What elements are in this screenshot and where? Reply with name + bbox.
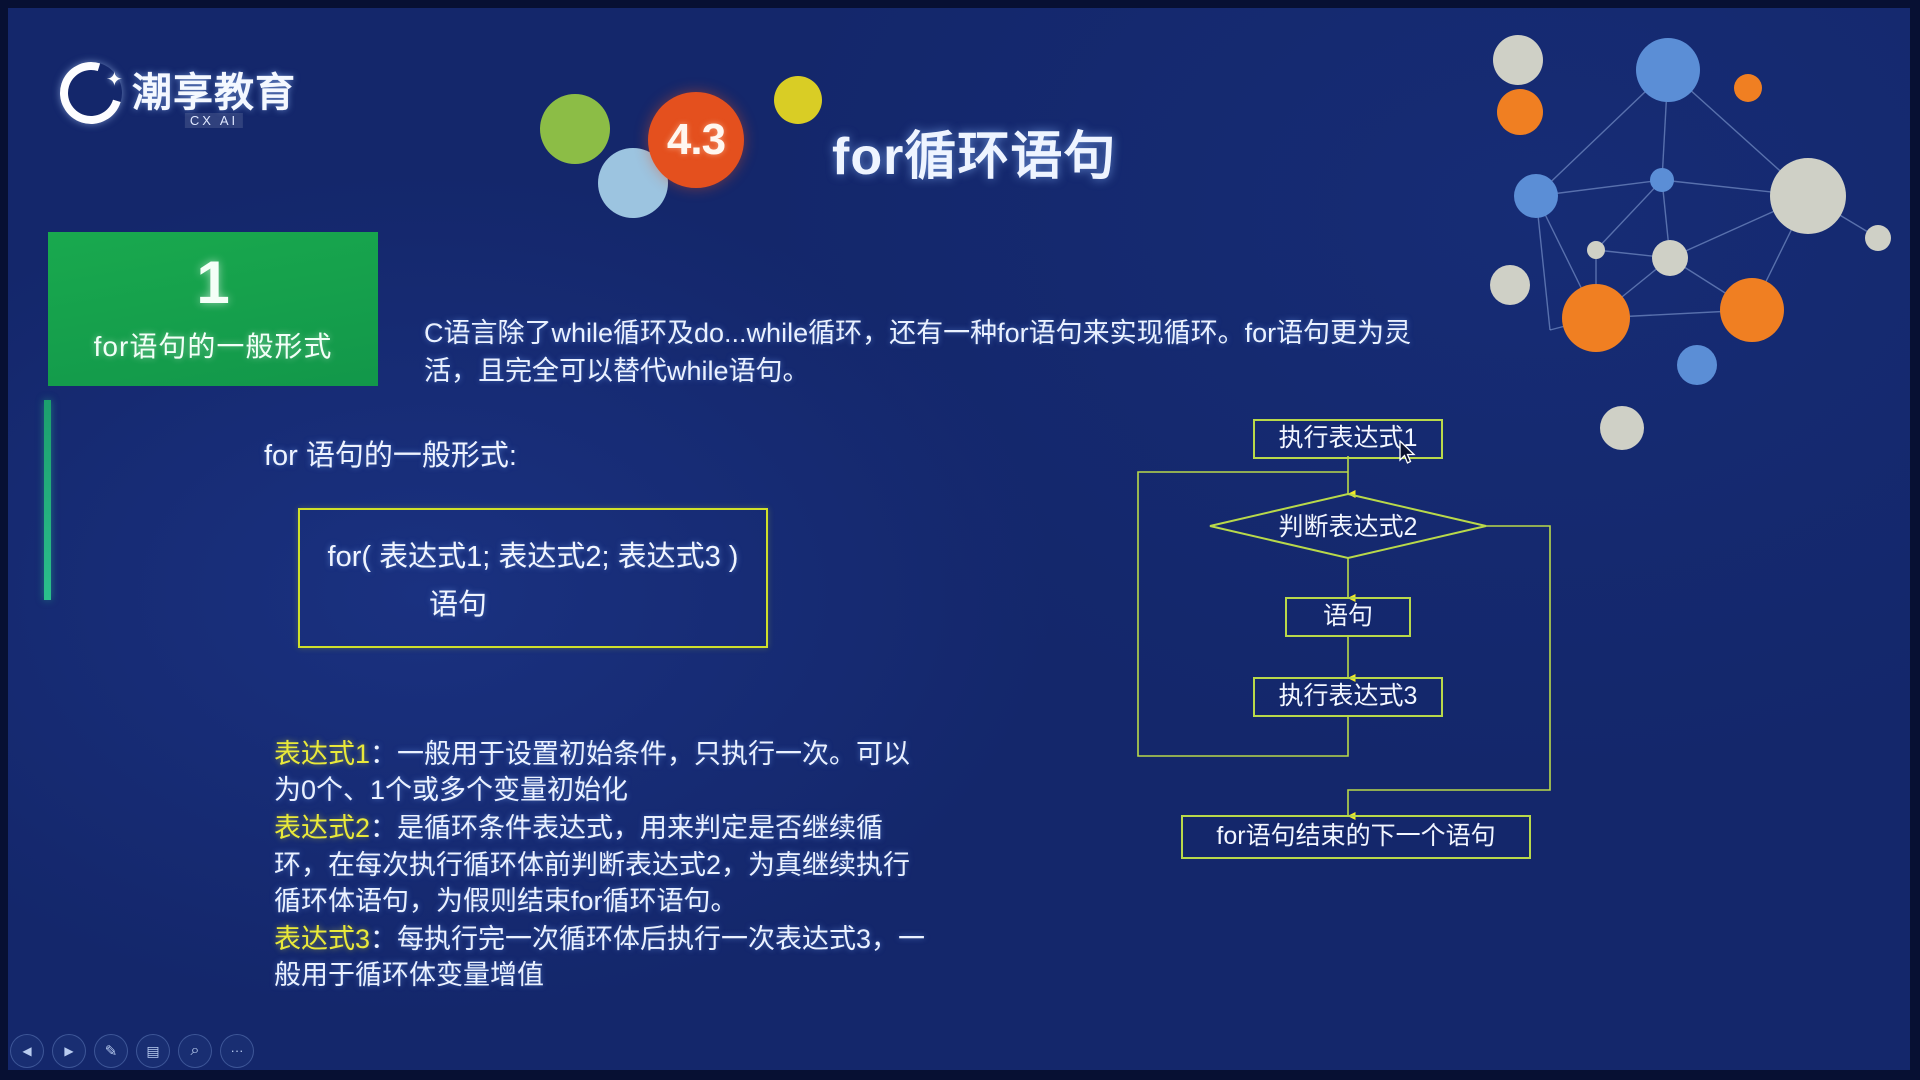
- explanation-colon-2: ：: [370, 813, 397, 843]
- flow-node-n5-label: for语句结束的下一个语句: [1216, 822, 1495, 850]
- code-syntax-box: for( 表达式1; 表达式2; 表达式3 ) 语句: [298, 508, 768, 648]
- flow-node-n2-label: 判断表达式2: [1279, 513, 1418, 541]
- player-toolbar[interactable]: ◀ ▶ ✎ ▤ ⌕ ···: [10, 1034, 254, 1068]
- more-options-button[interactable]: ···: [220, 1034, 254, 1068]
- logo-chinese-name: 潮享教育: [132, 73, 296, 113]
- slide-title: for循环语句: [832, 114, 1116, 189]
- general-form-label: for 语句的一般形式:: [264, 432, 517, 474]
- brand-logo: ✦ 潮享教育 CX AI: [60, 62, 296, 124]
- flow-node-n3-label: 语句: [1323, 602, 1373, 630]
- pen-icon: ✎: [105, 1042, 118, 1060]
- slide-edge-left: [0, 0, 8, 1080]
- flow-node-n4: 执行表达式3: [1254, 678, 1442, 716]
- previous-slide-icon: ◀: [22, 1044, 31, 1058]
- section-number: 1: [196, 253, 229, 313]
- explanation-item-1: 表达式1：一般用于设置初始条件，只执行一次。可以为0个、1个或多个变量初始化: [274, 736, 934, 808]
- logo-subtitle: CX AI: [185, 113, 243, 128]
- explanation-key-1: 表达式1: [274, 739, 370, 769]
- for-loop-flowchart: 执行表达式1 判断表达式2 语句 执行表达式3 for语句结束的下一个语句: [1130, 410, 1590, 1010]
- intro-paragraph: C语言除了while循环及do...while循环，还有一种for语句来实现循环…: [424, 314, 1444, 391]
- explanation-colon-1: ：: [370, 739, 397, 769]
- whiteboard-button[interactable]: ▤: [136, 1034, 170, 1068]
- explanation-colon-3: ：: [370, 924, 397, 954]
- whiteboard-icon: ▤: [146, 1043, 159, 1060]
- next-slide-icon: ▶: [64, 1044, 73, 1058]
- flow-edge-n2-n5-exit: [1348, 526, 1550, 816]
- ellipsis-icon: ···: [231, 1047, 244, 1055]
- decor-bubble-yellow: [774, 76, 822, 124]
- pen-tool-button[interactable]: ✎: [94, 1034, 128, 1068]
- accent-bar: [44, 400, 51, 600]
- explanation-key-2: 表达式2: [274, 813, 370, 843]
- section-heading-box: 1 for语句的一般形式: [48, 232, 378, 386]
- zoom-tool-button[interactable]: ⌕: [178, 1034, 212, 1068]
- next-slide-button[interactable]: ▶: [52, 1034, 86, 1068]
- section-number-badge: 4.3: [648, 92, 744, 188]
- logo-text-group: 潮享教育 CX AI: [132, 73, 296, 113]
- presentation-slide: ✦ 潮享教育 CX AI 4.3 for循环语句: [0, 0, 1920, 1080]
- section-number-badge-label: 4.3: [667, 115, 725, 165]
- code-line-1: for( 表达式1; 表达式2; 表达式3 ): [328, 533, 739, 575]
- flow-node-n5: for语句结束的下一个语句: [1182, 816, 1530, 858]
- flow-node-n4-label: 执行表达式3: [1279, 682, 1418, 710]
- section-label: for语句的一般形式: [94, 325, 333, 365]
- expression-explanation-list: 表达式1：一般用于设置初始条件，只执行一次。可以为0个、1个或多个变量初始化 表…: [274, 736, 934, 995]
- magnifier-icon: ⌕: [191, 1042, 200, 1060]
- explanation-item-3: 表达式3：每执行完一次循环体后执行一次表达式3，一般用于循环体变量增值: [274, 921, 934, 993]
- code-line-2: 语句: [429, 581, 487, 623]
- explanation-item-2: 表达式2：是循环条件表达式，用来判定是否继续循环，在每次执行循环体前判断表达式2…: [274, 810, 934, 919]
- slide-edge-bottom: [0, 1070, 1920, 1080]
- previous-slide-button[interactable]: ◀: [10, 1034, 44, 1068]
- flow-node-n1: 执行表达式1: [1254, 420, 1442, 458]
- flow-node-n3: 语句: [1286, 598, 1410, 636]
- explanation-key-3: 表达式3: [274, 924, 370, 954]
- flow-node-n2: 判断表达式2: [1210, 494, 1486, 558]
- decor-bubble-green: [540, 94, 610, 164]
- crescent-logo-icon: ✦: [60, 62, 122, 124]
- flow-node-n1-label: 执行表达式1: [1279, 424, 1418, 452]
